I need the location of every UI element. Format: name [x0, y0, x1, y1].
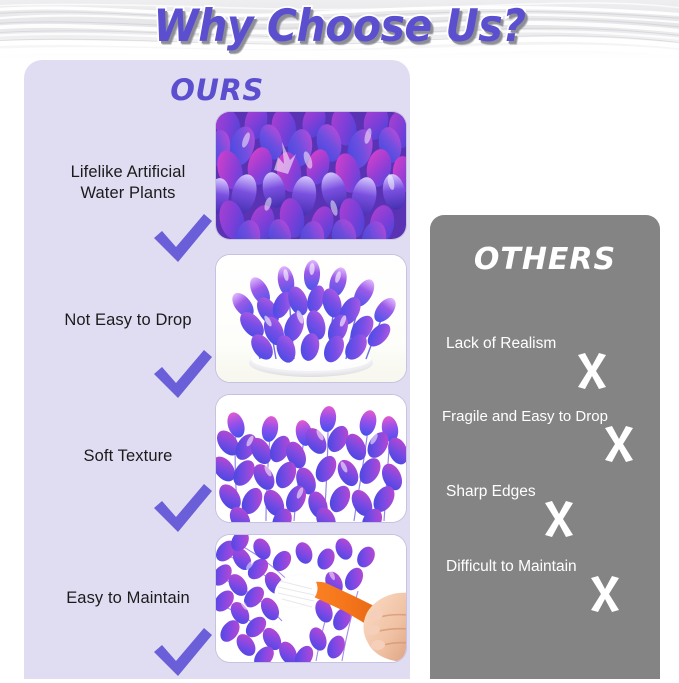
others-row: Sharp Edges — [430, 475, 660, 545]
ours-row-label: Easy to Maintain — [32, 588, 224, 609]
product-photo — [216, 395, 406, 522]
ours-row: Not Easy to Drop — [24, 252, 410, 392]
ours-row: Lifelike Artificial Water Plants — [24, 112, 410, 252]
plant-with-base-photo-icon — [216, 255, 406, 382]
ours-row-label-line1: Lifelike Artificial — [32, 162, 224, 183]
ours-row: Soft Texture — [24, 392, 410, 532]
product-photo — [216, 112, 406, 239]
brush-cleaning-photo-icon — [216, 535, 406, 662]
ours-row: Easy to Maintain — [24, 530, 410, 670]
others-row: Difficult to Maintain — [430, 550, 660, 620]
check-icon — [152, 482, 214, 534]
others-panel: OTHERS Lack of Realism Fragile and Easy … — [430, 215, 660, 679]
silk-wave-texture-icon — [0, 0, 679, 60]
others-row-label: Difficult to Maintain — [446, 558, 658, 576]
ours-row-label: Soft Texture — [32, 446, 224, 467]
others-heading: OTHERS — [430, 242, 660, 277]
ours-row-label: Not Easy to Drop — [32, 310, 224, 331]
comparison-infographic: Why Choose Us? OURS Lifelike Artificial … — [0, 0, 679, 679]
ours-heading: OURS — [24, 73, 410, 107]
ours-panel: OURS Lifelike Artificial Water Plants — [24, 60, 410, 679]
others-row-label: Fragile and Easy to Drop — [442, 408, 654, 425]
plant-sprays-photo-icon — [216, 395, 406, 522]
others-row-label: Lack of Realism — [446, 335, 658, 353]
dense-leaves-photo-icon — [216, 112, 406, 239]
cross-icon — [602, 426, 636, 462]
check-icon — [152, 626, 214, 678]
ours-row-label-line1: Not Easy to Drop — [32, 310, 224, 331]
header-banner — [0, 0, 679, 60]
ours-row-label: Lifelike Artificial Water Plants — [32, 162, 224, 203]
others-row: Fragile and Easy to Drop — [430, 400, 660, 470]
product-photo — [216, 535, 406, 662]
ours-row-label-line1: Easy to Maintain — [32, 588, 224, 609]
cross-icon — [542, 501, 576, 537]
cross-icon — [588, 576, 622, 612]
others-row: Lack of Realism — [430, 327, 660, 397]
ours-row-label-line2: Water Plants — [32, 183, 224, 204]
cross-icon — [575, 353, 609, 389]
product-photo — [216, 255, 406, 382]
others-row-label: Sharp Edges — [446, 483, 658, 501]
ours-row-label-line1: Soft Texture — [32, 446, 224, 467]
